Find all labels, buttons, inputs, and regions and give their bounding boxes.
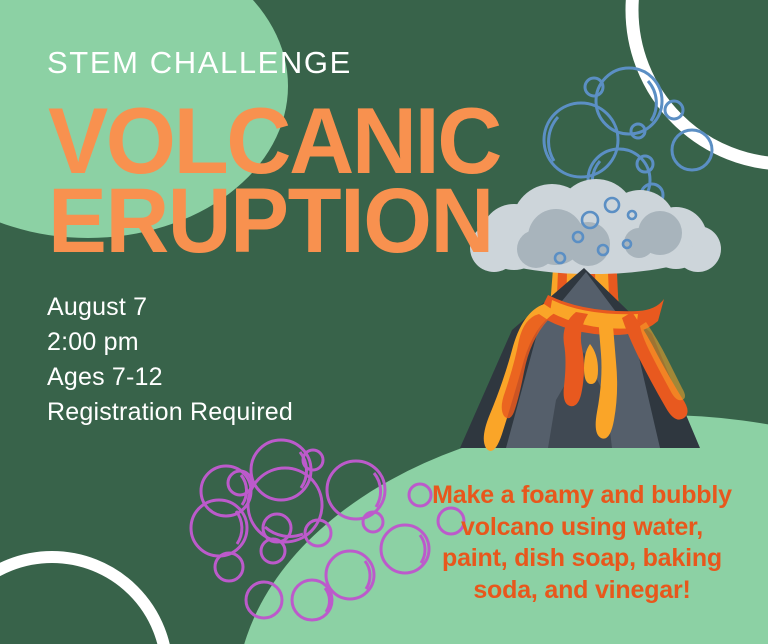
detail-date: August 7 bbox=[47, 290, 293, 325]
description-line: soda, and vinegar! bbox=[406, 575, 758, 607]
title-line-2: ERUPTION bbox=[48, 181, 499, 261]
detail-registration: Registration Required bbox=[47, 395, 293, 430]
eyebrow-label: STEM CHALLENGE bbox=[47, 44, 352, 82]
title-line-1: VOLCANIC bbox=[48, 101, 499, 181]
activity-description: Make a foamy and bubbly volcano using wa… bbox=[406, 480, 758, 606]
detail-ages: Ages 7-12 bbox=[47, 360, 293, 395]
detail-time: 2:00 pm bbox=[47, 325, 293, 360]
description-line: Make a foamy and bubbly bbox=[406, 480, 758, 512]
poster-canvas: STEM CHALLENGE VOLCANIC ERUPTION August … bbox=[0, 0, 768, 644]
description-line: paint, dish soap, baking bbox=[406, 543, 758, 575]
page-title: VOLCANIC ERUPTION bbox=[48, 101, 518, 261]
description-line: volcano using water, bbox=[406, 512, 758, 544]
text-layer: STEM CHALLENGE VOLCANIC ERUPTION August … bbox=[0, 0, 768, 644]
event-details-list: August 7 2:00 pm Ages 7-12 Registration … bbox=[47, 290, 293, 430]
